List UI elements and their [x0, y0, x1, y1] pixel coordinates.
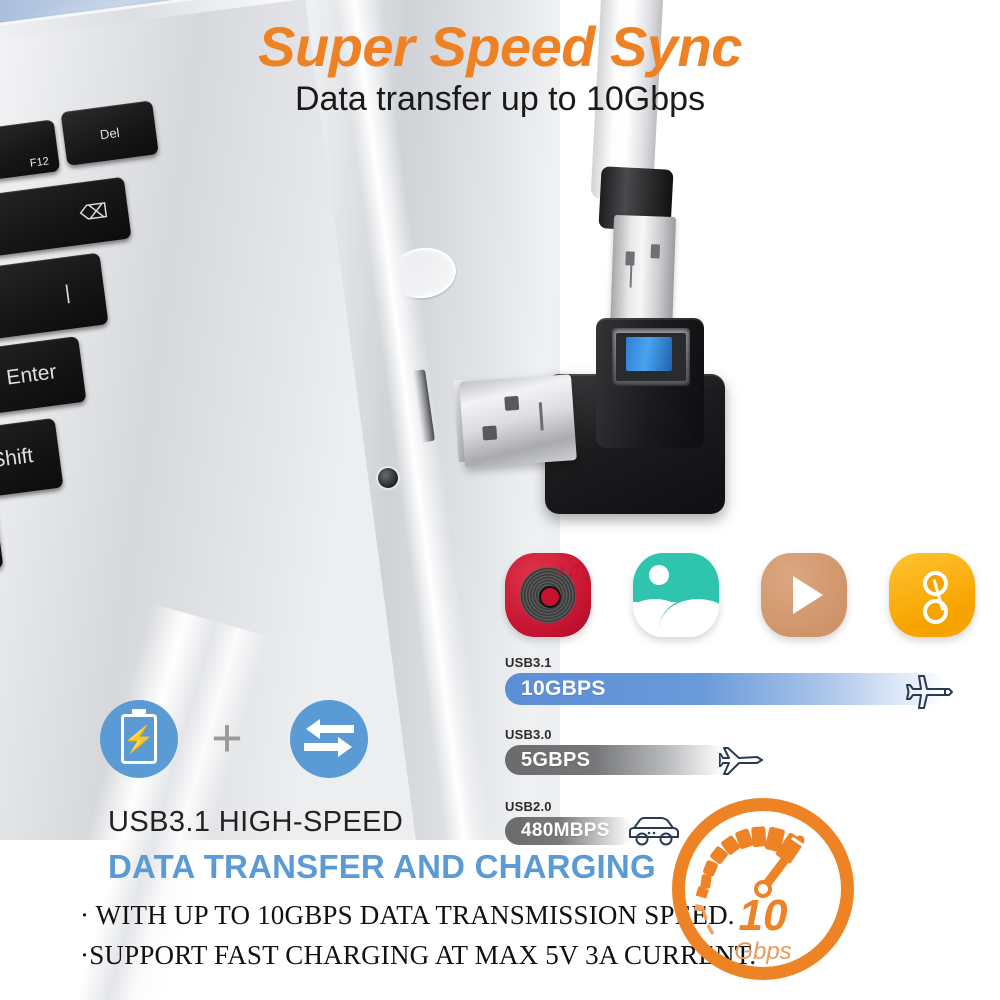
feature-icons: ⚡ + — [100, 700, 370, 782]
bar-usb30: 5GBPS — [505, 745, 727, 775]
bar-value-usb20: 480MBPS — [521, 820, 610, 842]
photo-app-icon[interactable] — [633, 553, 719, 637]
speed-gauge: 10 Gbps — [672, 798, 854, 980]
app-icons-row: ♪♫ — [505, 553, 975, 639]
music-app-icon[interactable]: ♪♫ — [505, 553, 591, 637]
jet-icon — [905, 673, 957, 711]
bar-label-usb31: USB3.1 — [505, 655, 975, 670]
bar-value-usb30: 5GBPS — [521, 749, 590, 772]
bullet-item-1: · WITH UP TO 10GBPS DATA TRANSMISSION SP… — [80, 900, 735, 931]
adapter-female-port — [612, 328, 690, 386]
feature-subheading: DATA TRANSFER AND CHARGING — [108, 848, 656, 886]
gauge-unit: Gbps — [672, 938, 854, 966]
bar-row-usb30: USB3.0 5GBPS — [505, 727, 975, 775]
transfer-arrows-glyph — [304, 717, 354, 761]
bar-label-usb30: USB3.0 — [505, 727, 975, 742]
bullet-item-2: ·SUPPORT FAST CHARGING AT MAX 5V 3A CURR… — [80, 940, 756, 971]
page-subtitle: Data transfer up to 10Gbps — [0, 80, 1000, 119]
usb3-blue-tongue — [626, 337, 672, 371]
page-title: Super Speed Sync — [0, 14, 1000, 79]
gauge-value: 10 — [672, 894, 854, 938]
file-app-icon[interactable] — [889, 553, 975, 637]
lightning-bolt-glyph: ⚡ — [123, 726, 155, 752]
battery-charging-icon: ⚡ — [100, 700, 178, 778]
video-app-icon[interactable] — [761, 553, 847, 637]
bar-row-usb31: USB3.1 10GBPS — [505, 655, 975, 705]
airplane-icon — [719, 743, 765, 779]
product-marketing-image: tSc F11 Ins F12 Del ⌫ } | Enter — [0, 0, 1000, 1000]
feature-heading: USB3.1 HIGH-SPEED — [108, 806, 403, 839]
adapter-male-plug — [459, 374, 577, 468]
music-note-glyph: ♪♫ — [556, 559, 581, 582]
bar-usb31: 10GBPS — [505, 673, 945, 705]
bar-value-usb31: 10GBPS — [521, 677, 606, 701]
bar-usb20: 480MBPS — [505, 817, 633, 845]
play-triangle-icon — [793, 576, 823, 614]
data-transfer-icon — [290, 700, 368, 778]
plus-separator: + — [204, 718, 250, 764]
